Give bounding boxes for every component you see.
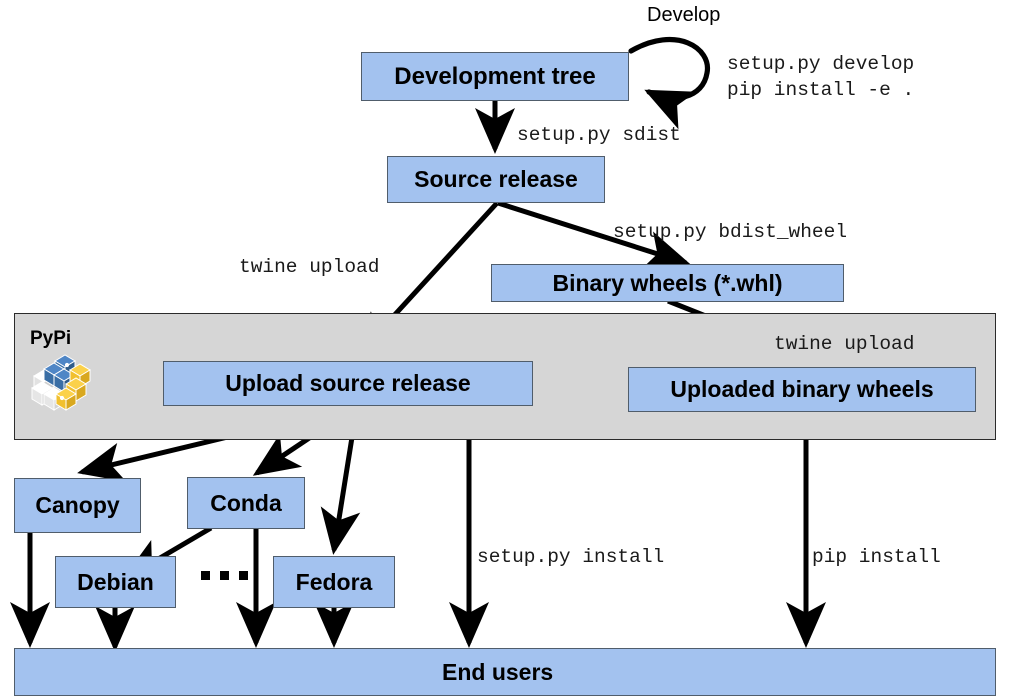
pypi-region-label: PyPi	[30, 328, 71, 350]
node-development-tree[interactable]: Development tree	[361, 52, 629, 101]
node-canopy[interactable]: Canopy	[14, 478, 141, 533]
label-develop-commands: setup.py develop pip install -e .	[727, 52, 914, 103]
label-setup-bdist-wheel: setup.py bdist_wheel	[613, 220, 847, 246]
node-source-release[interactable]: Source release	[387, 156, 605, 203]
node-binary-wheels[interactable]: Binary wheels (*.whl)	[491, 264, 844, 302]
label-twine-upload-wheels: twine upload	[774, 332, 914, 358]
node-uploaded-binary-wheels[interactable]: Uploaded binary wheels	[628, 367, 976, 412]
node-end-users-label: End users	[442, 659, 553, 686]
label-setup-sdist: setup.py sdist	[517, 123, 681, 149]
label-setup-install: setup.py install	[477, 545, 664, 571]
label-pip-install: pip install	[812, 545, 941, 571]
python-logo	[26, 352, 92, 414]
node-debian[interactable]: Debian	[55, 556, 176, 608]
node-end-users[interactable]: End users	[14, 648, 996, 696]
node-conda[interactable]: Conda	[187, 477, 305, 529]
ellipsis-dots	[201, 571, 248, 580]
node-fedora[interactable]: Fedora	[273, 556, 395, 608]
label-develop: Develop	[647, 4, 720, 27]
diagram-canvas: PyPi	[0, 0, 1009, 698]
label-twine-upload-source: twine upload	[239, 255, 379, 281]
node-upload-source-release[interactable]: Upload source release	[163, 361, 533, 406]
arrow-develop-loop	[631, 40, 707, 98]
